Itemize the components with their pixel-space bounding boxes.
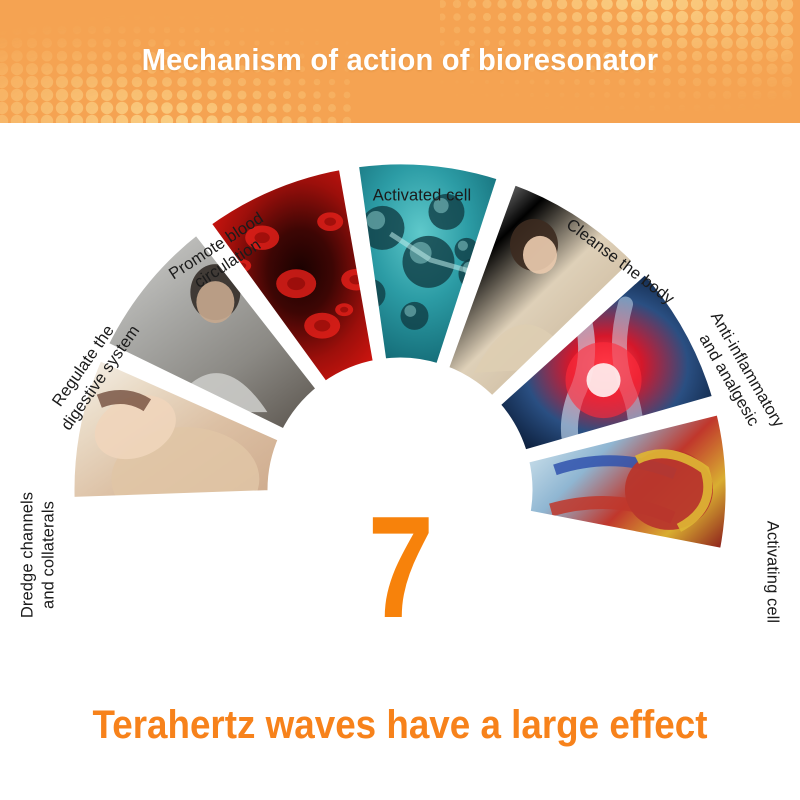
- center-number: 7: [72, 495, 728, 640]
- segment-label-activated-cell: Activated cell: [373, 186, 472, 207]
- segment-label-dredge-channels: Dredge channelsand collaterals: [17, 492, 58, 618]
- header-banner: Mechanism of action of bioresonator: [0, 0, 800, 123]
- header-title: Mechanism of action of bioresonator: [24, 0, 776, 123]
- segment-label-activating-cell: Activating cell: [762, 521, 783, 623]
- infographic-canvas: Mechanism of action of bioresonator: [0, 0, 800, 800]
- footer-tagline: Terahertz waves have a large effect: [32, 690, 768, 760]
